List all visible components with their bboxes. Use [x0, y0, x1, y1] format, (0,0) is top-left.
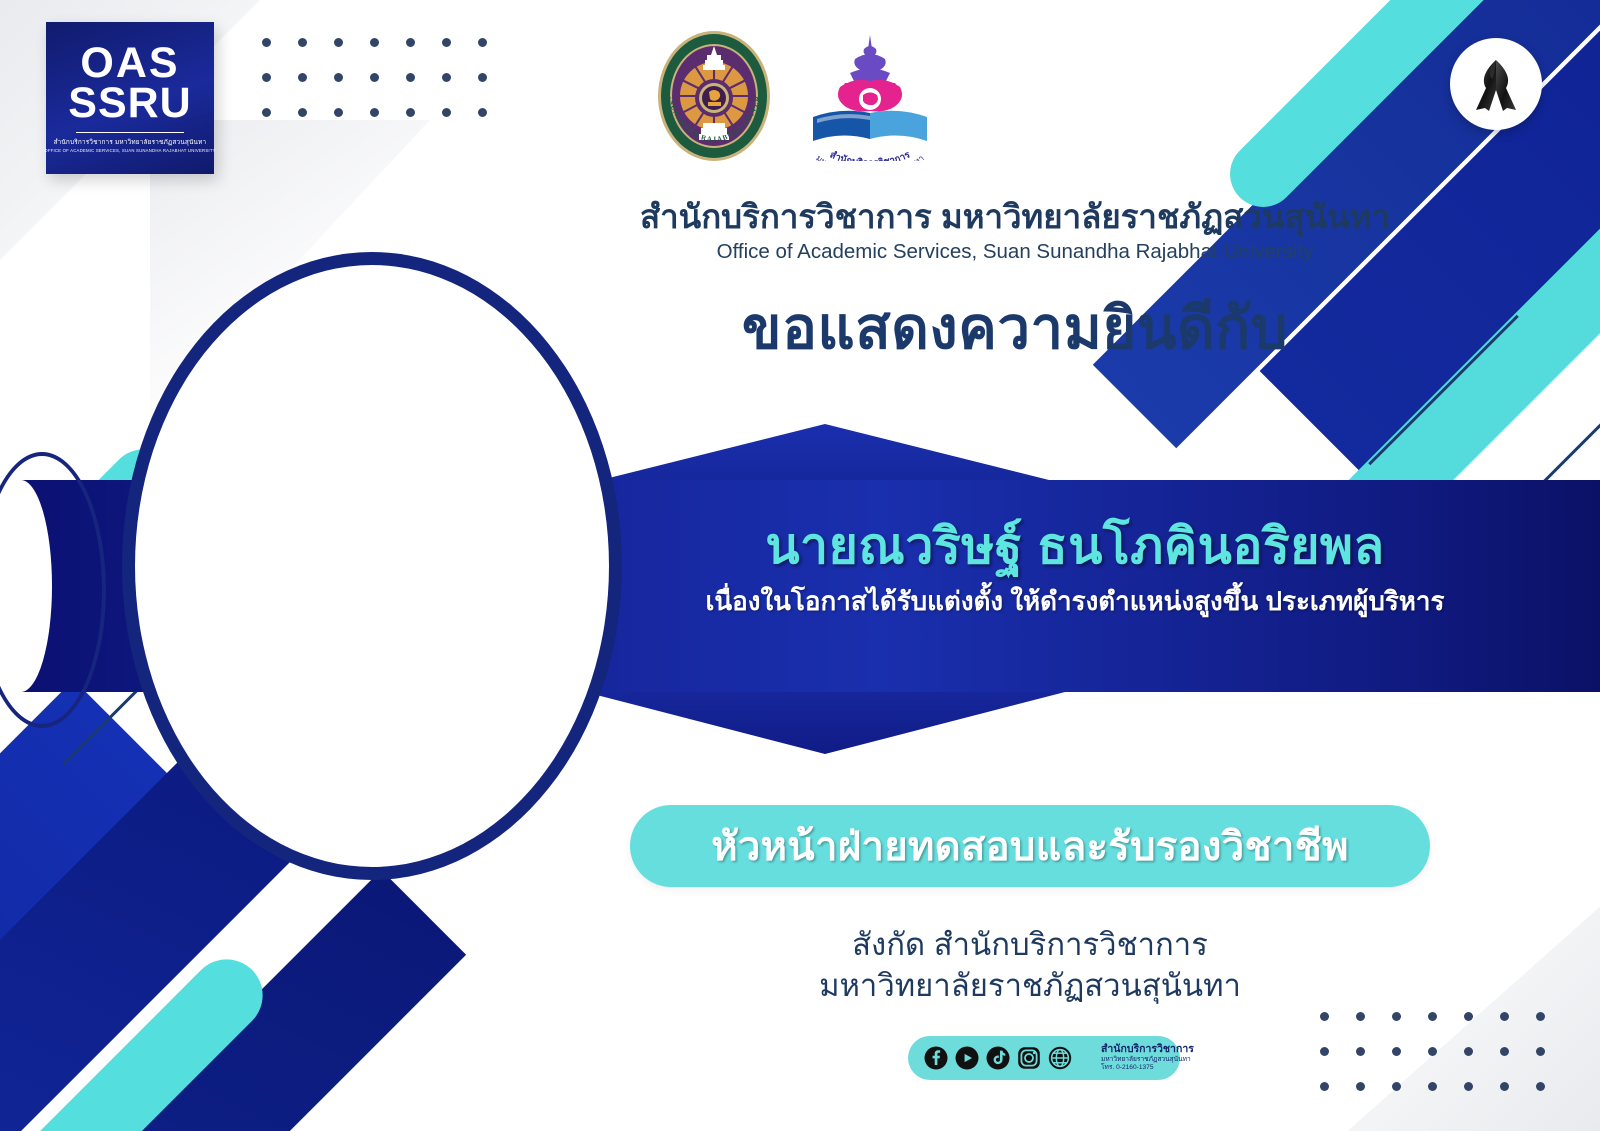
header-block: สำนักบริการวิชาการ มหาวิทยาลัยราชภัฏสวนส…	[560, 198, 1470, 266]
black-ribbon-icon	[1470, 54, 1522, 114]
congratulation-poster: OAS SSRU สำนักบริการวิชาการ มหาวิทยาลัยร…	[0, 0, 1600, 1131]
organization-name-th: สำนักบริการวิชาการ มหาวิทยาลัยราชภัฏสวนส…	[560, 198, 1470, 237]
suan-sunandha-rajabhat-university-seal-icon: SUAN SUNANDHA RAJABHAT UNIVERSITY	[655, 28, 773, 164]
organization-name-en: Office of Academic Services, Suan Sunand…	[560, 239, 1470, 266]
footer-phone: โทร. 0-2160-1375	[1101, 1064, 1194, 1072]
dot-grid-bottom-right	[1320, 1012, 1545, 1091]
mourning-ribbon-badge	[1450, 38, 1542, 130]
honoree-name: นายณวริษฐ์ ธนโภคินอริยพล	[620, 516, 1530, 576]
office-of-academic-services-seal-icon: สำนักบริการวิชาการ มหาวิทยาลัยราชภัฏสวนส…	[795, 31, 945, 161]
position-title: หัวหน้าฝ่ายทดสอบและรับรองวิชาชีพ	[711, 814, 1349, 878]
youtube-icon[interactable]	[955, 1046, 979, 1070]
affiliation-block: สังกัด สำนักบริการวิชาการ มหาวิทยาลัยราช…	[620, 924, 1440, 1006]
affiliation-line-2: มหาวิทยาลัยราชภัฏสวนสุนันทา	[620, 965, 1440, 1006]
facebook-icon[interactable]	[924, 1046, 948, 1070]
honoree-name-block: นายณวริษฐ์ ธนโภคินอริยพล เนื่องในโอกาสได…	[620, 516, 1530, 618]
social-icon-group	[924, 1046, 1072, 1070]
portrait-frame: SUAN SUNANDHA UNIVERSITY	[122, 252, 622, 880]
website-globe-icon[interactable]	[1048, 1046, 1072, 1070]
tiktok-icon[interactable]	[986, 1046, 1010, 1070]
congratulations-heading: ขอแสดงความยินดีกับ	[560, 296, 1470, 363]
position-pill: หัวหน้าฝ่ายทดสอบและรับรองวิชาชีพ	[630, 805, 1430, 887]
social-footer-bar: สำนักบริการวิชาการ มหาวิทยาลัยราชภัฏสวนส…	[908, 1036, 1180, 1080]
instagram-icon[interactable]	[1017, 1046, 1041, 1070]
thin-navy-line-top-right-2	[1536, 381, 1600, 489]
social-text-block: สำนักบริการวิชาการ มหาวิทยาลัยราชภัฏสวนส…	[1101, 1044, 1194, 1071]
honoree-reason: เนื่องในโอกาสได้รับแต่งตั้ง ให้ดำรงตำแหน…	[620, 585, 1530, 618]
footer-org-name: สำนักบริการวิชาการ	[1101, 1044, 1194, 1056]
seal-group: SUAN SUNANDHA RAJABHAT UNIVERSITY	[0, 28, 1600, 164]
footer-org-sub: มหาวิทยาลัยราชภัฏสวนสุนันทา	[1101, 1056, 1194, 1064]
affiliation-line-1: สังกัด สำนักบริการวิชาการ	[620, 924, 1440, 965]
portrait-ring	[122, 252, 622, 880]
svg-text:สำนักบริการวิชาการ: สำนักบริการวิชาการ	[828, 149, 913, 161]
